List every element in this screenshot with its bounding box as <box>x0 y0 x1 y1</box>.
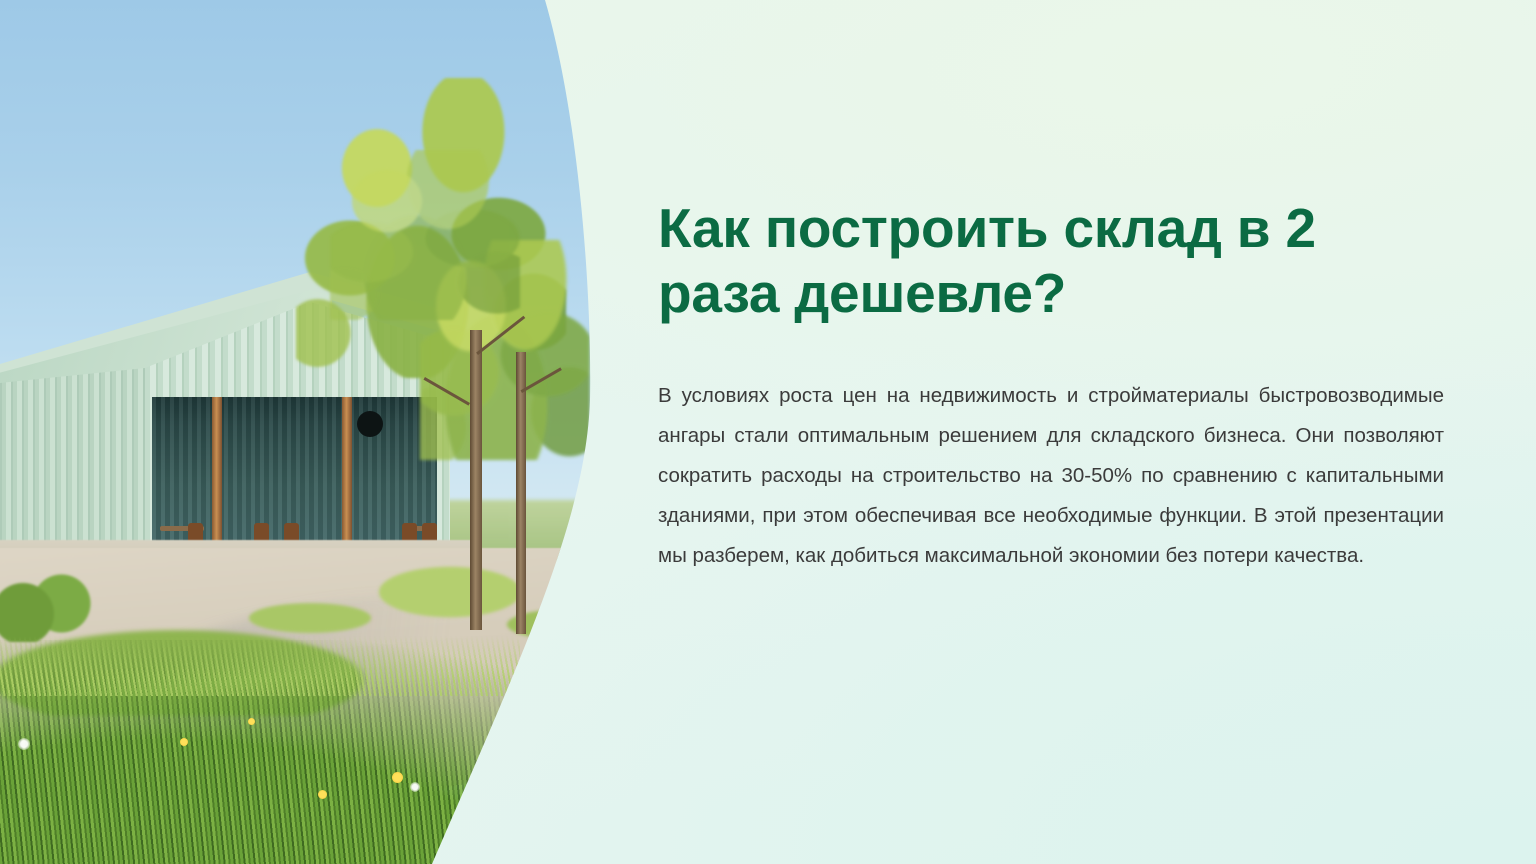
tree-trunk <box>516 352 526 634</box>
open-bay-interior <box>152 397 437 557</box>
slide-text-column: Как построить склад в 2 раза дешевле? В … <box>658 196 1444 577</box>
support-column <box>342 397 352 557</box>
dandelion-seedhead <box>410 782 420 792</box>
ventilation-fan-icon <box>357 411 383 437</box>
grass-tips <box>0 636 520 696</box>
presentation-slide: Как построить склад в 2 раза дешевле? В … <box>0 0 1536 864</box>
dandelion-flower <box>392 772 403 783</box>
dandelion-flower <box>248 718 255 725</box>
side-wall-corrugated <box>0 367 155 557</box>
dandelion-flower <box>318 790 327 799</box>
slide-title: Как построить склад в 2 раза дешевле? <box>658 196 1398 326</box>
dandelion-seedhead <box>18 738 30 750</box>
shrub <box>0 572 100 642</box>
support-column <box>212 397 222 557</box>
slide-body-text: В условиях роста цен на недвижимость и с… <box>658 376 1444 577</box>
tree-canopy-highlight <box>330 150 520 320</box>
tree-trunk <box>470 330 482 630</box>
dandelion-flower <box>180 738 188 746</box>
